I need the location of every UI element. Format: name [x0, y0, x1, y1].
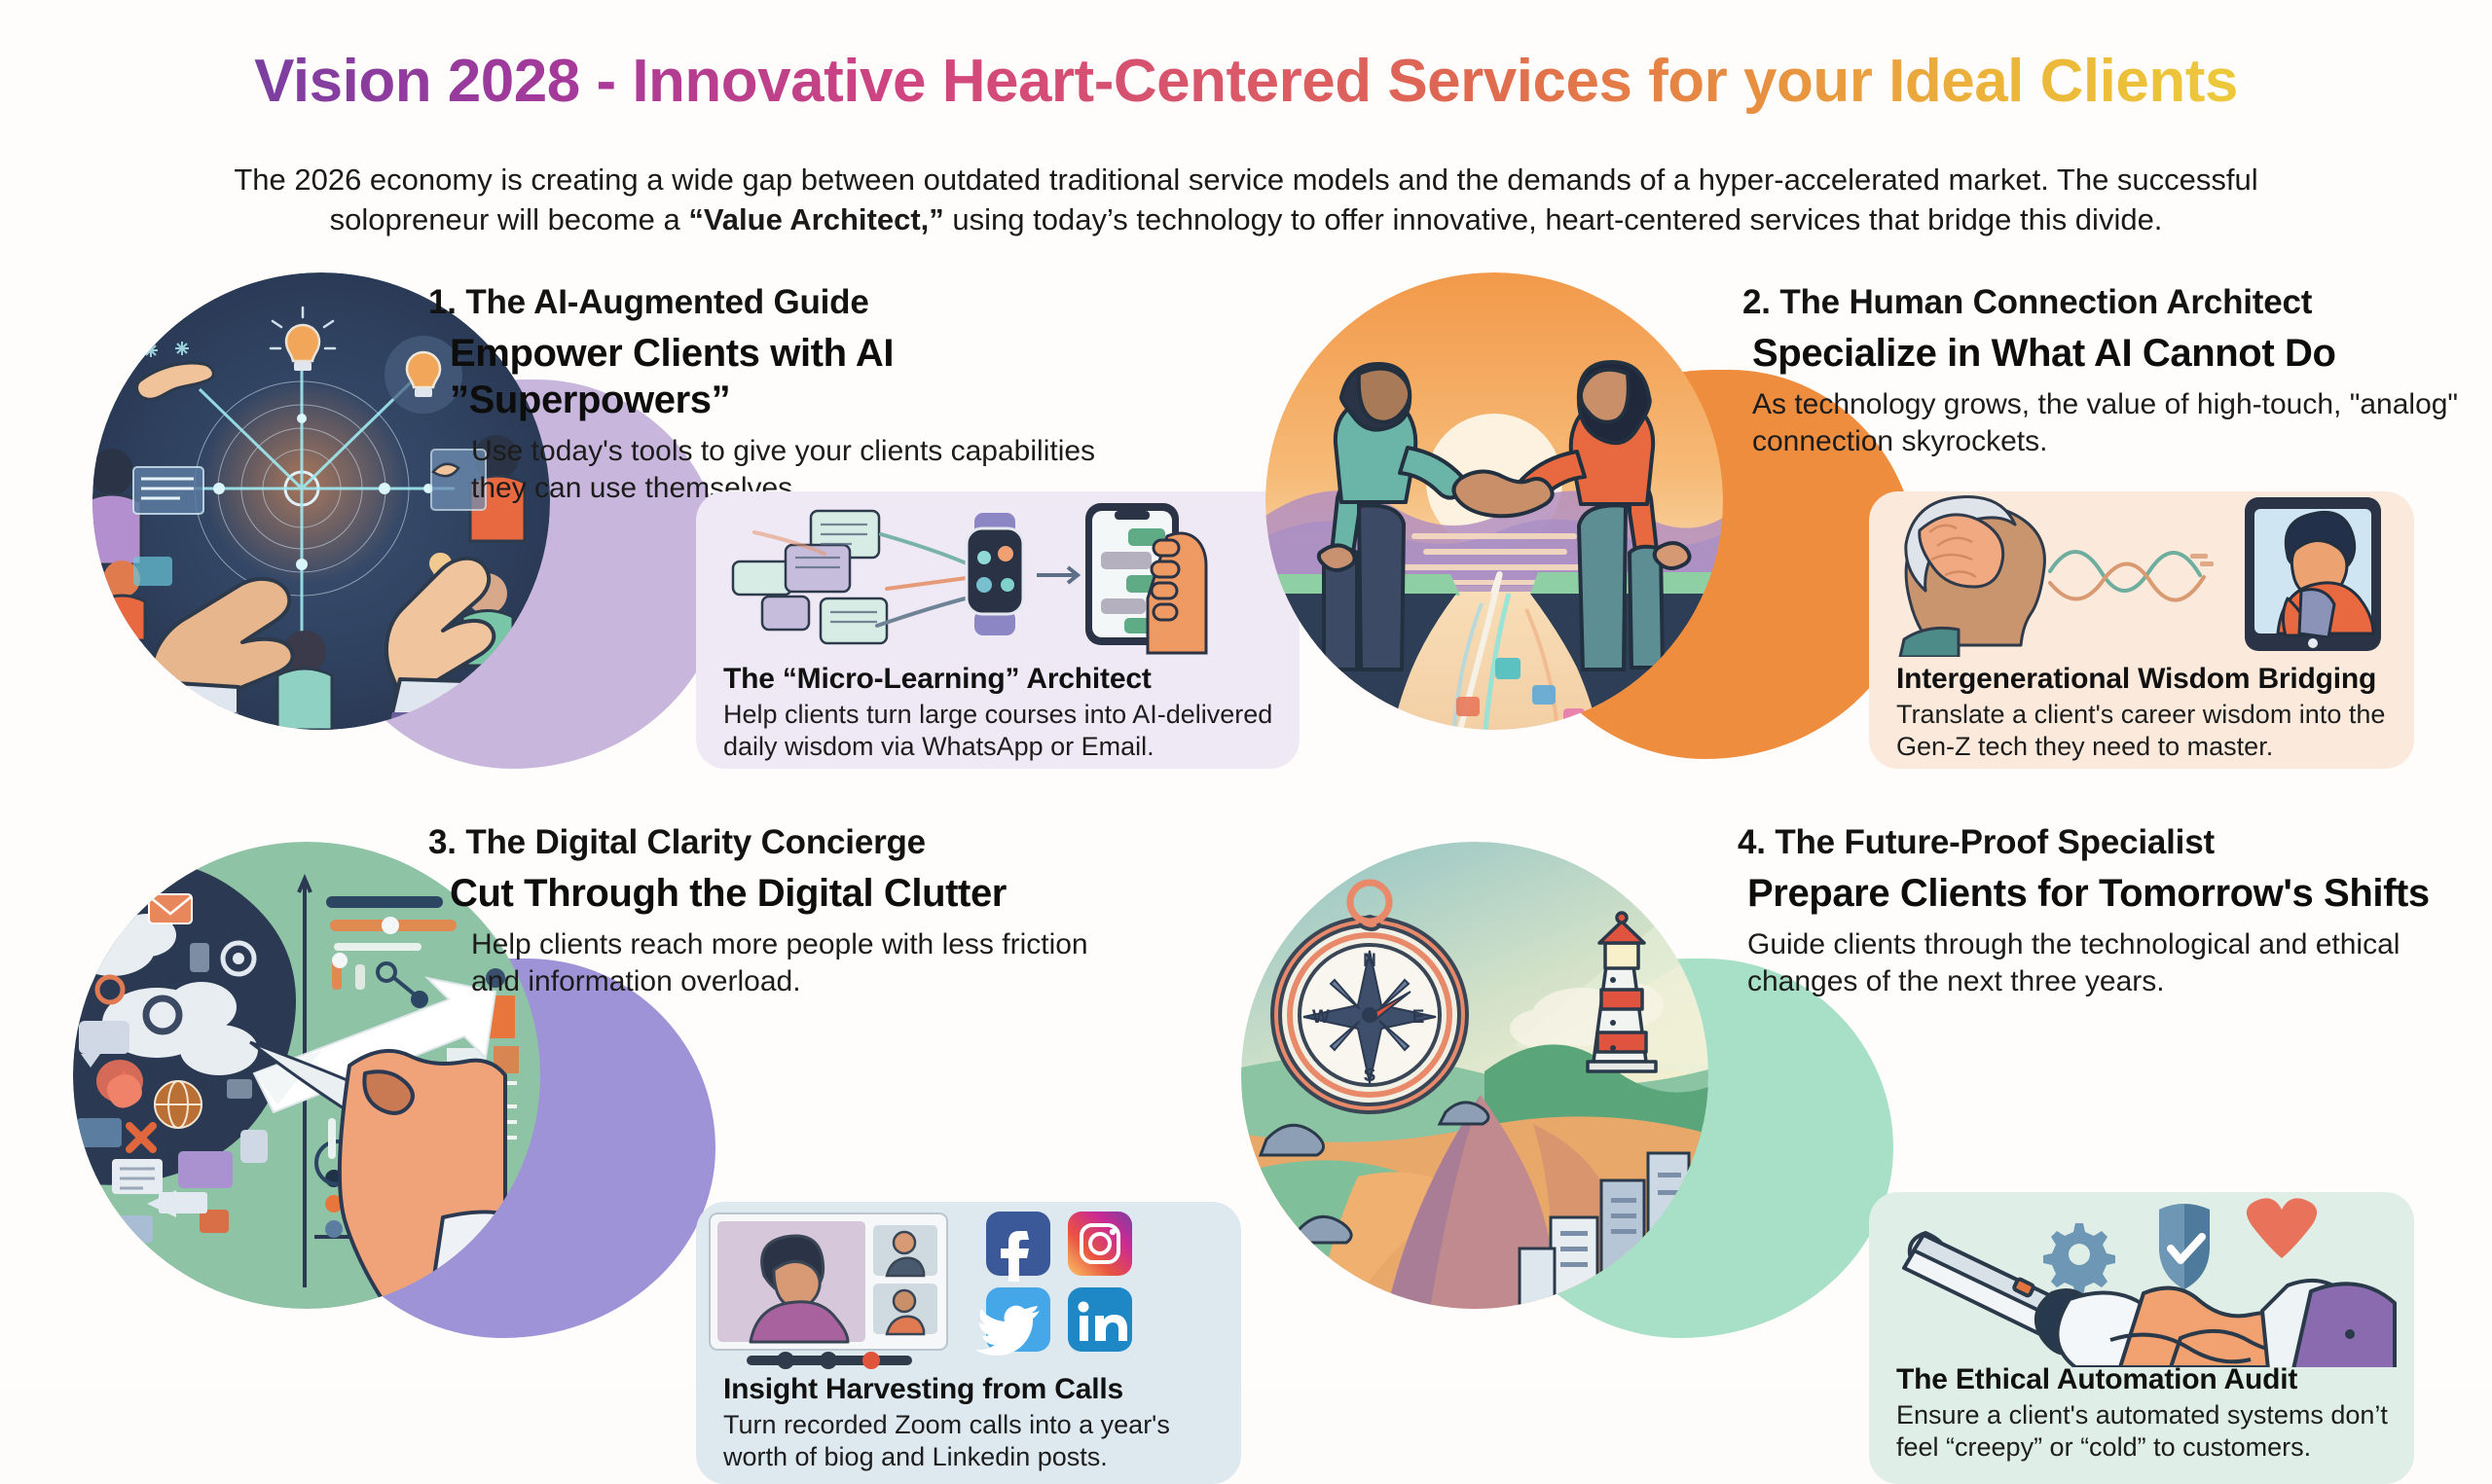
section-3-card-title: Insight Harvesting from Calls: [723, 1373, 1224, 1406]
section-1-card-title: The “Micro-Learning” Architect: [723, 663, 1282, 696]
section-3-card-illustration: [696, 1202, 1241, 1367]
svg-text:N: N: [1363, 951, 1376, 971]
section-1-number-title: 1. The AI-Augmented Guide: [428, 282, 1129, 322]
section-3-card-body: Turn recorded Zoom calls into a year's w…: [723, 1409, 1224, 1473]
section-3-body: Help clients reach more people with less…: [428, 926, 1129, 1000]
section-2-circle-illustration: [1265, 272, 1723, 730]
section-1: 1. The AI-Augmented Guide Empower Client…: [0, 282, 1246, 866]
section-3: @: [0, 832, 1246, 1416]
subtitle-part-2: using today’s technology to offer innova…: [944, 202, 2163, 236]
section-4-card-illustration: [1869, 1192, 2414, 1357]
svg-text:@: @: [108, 889, 139, 924]
section-4-card: The Ethical Automation Audit Ensure a cl…: [1869, 1192, 2414, 1484]
page-subtitle: The 2026 economy is creating a wide gap …: [161, 161, 2331, 240]
section-4-body: Guide clients through the technological …: [1738, 926, 2477, 1000]
subtitle-value-architect: “Value Architect,”: [688, 202, 943, 236]
section-3-text-block: 3. The Digital Clarity Concierge Cut Thr…: [428, 822, 1129, 1000]
section-2-text-block: 2. The Human Connection Architect Specia…: [1742, 282, 2482, 460]
section-4-card-title: The Ethical Automation Audit: [1896, 1363, 2397, 1396]
section-4: NESW: [1246, 832, 2492, 1416]
section-1-text-block: 1. The AI-Augmented Guide Empower Client…: [428, 282, 1129, 507]
section-4-number-title: 4. The Future-Proof Specialist: [1738, 822, 2477, 862]
infographic-page: Vision 2028 - Innovative Heart-Centered …: [0, 0, 2492, 1390]
section-1-card-body: Help clients turn large courses into AI-…: [723, 699, 1282, 763]
heart-icon: [2247, 1198, 2317, 1258]
section-1-card-text: The “Micro-Learning” Architect Help clie…: [723, 663, 1282, 763]
svg-text:S: S: [1364, 1066, 1376, 1086]
section-4-text-block: 4. The Future-Proof Specialist Prepare C…: [1738, 822, 2477, 1000]
section-3-headline: Cut Through the Digital Clutter: [428, 870, 1129, 917]
section-2-number-title: 2. The Human Connection Architect: [1742, 282, 2482, 322]
section-4-circle-illustration: NESW: [1241, 842, 1708, 1309]
section-3-card-text: Insight Harvesting from Calls Turn recor…: [723, 1373, 1224, 1473]
svg-text:W: W: [1312, 1007, 1330, 1028]
section-4-card-text: The Ethical Automation Audit Ensure a cl…: [1896, 1363, 2397, 1464]
gear-icon: [2043, 1223, 2115, 1295]
section-2-card: Intergenerational Wisdom Bridging Transl…: [1869, 491, 2414, 769]
section-4-headline: Prepare Clients for Tomorrow's Shifts: [1738, 870, 2477, 917]
section-3-card: Insight Harvesting from Calls Turn recor…: [696, 1202, 1241, 1484]
section-2-body: As technology grows, the value of high-t…: [1742, 386, 2482, 460]
section-2-headline: Specialize in What AI Cannot Do: [1742, 330, 2482, 377]
section-2-card-text: Intergenerational Wisdom Bridging Transl…: [1896, 663, 2397, 763]
social-icon-grid: [975, 1212, 1132, 1356]
svg-text:E: E: [1412, 1007, 1425, 1028]
section-2-card-body: Translate a client's career wisdom into …: [1896, 699, 2397, 763]
page-title-text: Vision 2028 - Innovative Heart-Centered …: [254, 48, 2238, 115]
section-1-headline: Empower Clients with AI ”Superpowers”: [428, 330, 1129, 423]
section-1-card-illustration: [696, 491, 1300, 657]
section-2-card-title: Intergenerational Wisdom Bridging: [1896, 663, 2397, 696]
section-2-card-illustration: [1869, 491, 2414, 657]
page-title: Vision 2028 - Innovative Heart-Centered …: [0, 47, 2492, 116]
section-4-card-body: Ensure a client's automated systems don’…: [1896, 1399, 2397, 1464]
section-1-card: The “Micro-Learning” Architect Help clie…: [696, 491, 1300, 769]
section-3-number-title: 3. The Digital Clarity Concierge: [428, 822, 1129, 862]
section-2: 2. The Human Connection Architect Specia…: [1246, 282, 2492, 866]
shield-check-icon: [2159, 1204, 2210, 1289]
